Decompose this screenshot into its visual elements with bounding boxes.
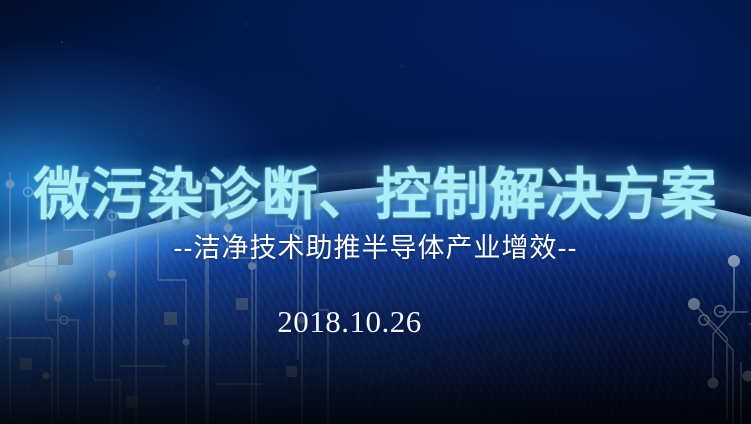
presentation-date: 2018.10.26 [0, 304, 751, 340]
presentation-title-slide: 微污染诊断、控制解决方案 --洁净技术助推半导体产业增效-- 2018.10.2… [0, 0, 751, 424]
page-subtitle: --洁净技术助推半导体产业增效-- [0, 226, 751, 265]
page-title: 微污染诊断、控制解决方案 [0, 150, 751, 231]
